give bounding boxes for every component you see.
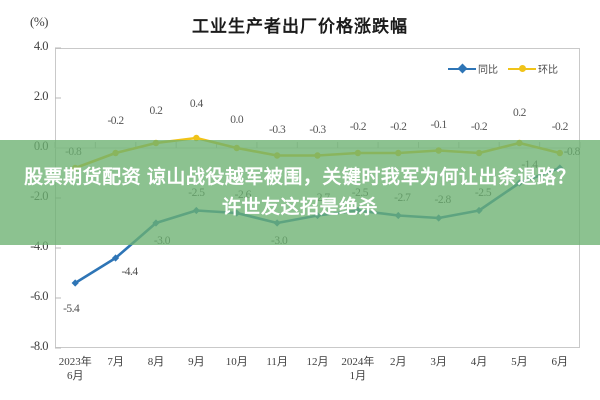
data-label-mom: -0.2: [107, 115, 123, 127]
data-label-mom: -0.2: [552, 121, 568, 133]
data-label-mom: -0.2: [350, 121, 366, 133]
data-label-mom: -0.1: [431, 119, 447, 131]
data-point-marker: [476, 150, 482, 156]
data-label-mom: -0.8: [65, 146, 81, 158]
data-point-marker: [112, 150, 118, 156]
data-label-yoy: -3.0: [271, 235, 287, 247]
data-point-marker: [153, 140, 159, 146]
data-point-marker: [274, 219, 281, 226]
data-point-marker: [233, 209, 240, 216]
data-point-marker: [193, 135, 199, 141]
x-axis-tick-label: 8月: [148, 356, 165, 370]
data-point-marker: [72, 165, 78, 171]
data-point-marker: [395, 150, 401, 156]
y-axis-tick-label: -4.0: [4, 239, 48, 254]
data-label-mom: -0.3: [269, 124, 285, 136]
data-label-yoy: -0.8: [564, 146, 580, 158]
data-label-yoy: -4.4: [121, 266, 137, 278]
data-label-mom: 0.4: [190, 98, 203, 110]
data-label-yoy: -2.7: [313, 192, 329, 204]
data-label-yoy: -5.4: [63, 303, 79, 315]
data-label-mom: 0.0: [230, 114, 243, 126]
x-axis-tick-label: 7月: [107, 356, 124, 370]
x-axis-tick-label: 10月: [226, 356, 248, 370]
x-axis-tick-label: 2月: [390, 356, 407, 370]
plot-svg: [0, 0, 600, 400]
data-point-marker: [314, 212, 321, 219]
x-axis-tick-label: 3月: [430, 356, 447, 370]
x-axis-tick-label: 5月: [511, 356, 528, 370]
series-line-yoy: [75, 168, 560, 283]
data-point-marker: [435, 214, 442, 221]
y-axis-tick-label: 4.0: [4, 39, 48, 54]
x-axis-tick-label: 2023年6月: [59, 356, 92, 384]
y-axis-tick-label: -6.0: [4, 289, 48, 304]
data-point-marker: [193, 207, 200, 214]
x-axis-tick-label: 11月: [266, 356, 288, 370]
data-label-mom: -0.2: [471, 121, 487, 133]
data-label-yoy: -2.6: [235, 189, 251, 201]
data-point-marker: [395, 212, 402, 219]
y-axis-tick-label: -2.0: [4, 189, 48, 204]
data-point-marker: [516, 140, 522, 146]
x-axis-tick-label: 9月: [188, 356, 205, 370]
chart-container: (%) 工业生产者出厂价格涨跌幅 同比环比 4.02.00.0-2.0-4.0-…: [0, 0, 600, 400]
data-label-yoy: -2.7: [394, 192, 410, 204]
x-axis-tick-label: 12月: [307, 356, 329, 370]
data-point-marker: [354, 207, 361, 214]
data-label-mom: -0.2: [390, 121, 406, 133]
data-point-marker: [355, 150, 361, 156]
data-label-yoy: -2.5: [188, 187, 204, 199]
data-label-yoy: -2.8: [435, 194, 451, 206]
y-axis-tick-label: -8.0: [4, 339, 48, 354]
data-label-yoy: -2.5: [475, 187, 491, 199]
data-label-mom: 0.2: [513, 107, 526, 119]
data-point-marker: [274, 152, 280, 158]
x-axis-tick-label: 2024年1月: [341, 356, 374, 384]
data-point-marker: [314, 152, 320, 158]
x-axis-tick-label: 4月: [471, 356, 488, 370]
data-label-yoy: -1.4: [521, 159, 537, 171]
y-axis-tick-label: 0.0: [4, 139, 48, 154]
data-label-mom: 0.2: [150, 105, 163, 117]
y-axis-tick-label: 2.0: [4, 89, 48, 104]
data-point-marker: [557, 150, 563, 156]
x-axis-tick-label: 6月: [552, 356, 569, 370]
data-label-yoy: -2.5: [352, 187, 368, 199]
data-point-marker: [234, 145, 240, 151]
data-point-marker: [556, 164, 563, 171]
data-label-yoy: -3.0: [154, 235, 170, 247]
data-point-marker: [435, 147, 441, 153]
data-label-mom: -0.3: [309, 124, 325, 136]
